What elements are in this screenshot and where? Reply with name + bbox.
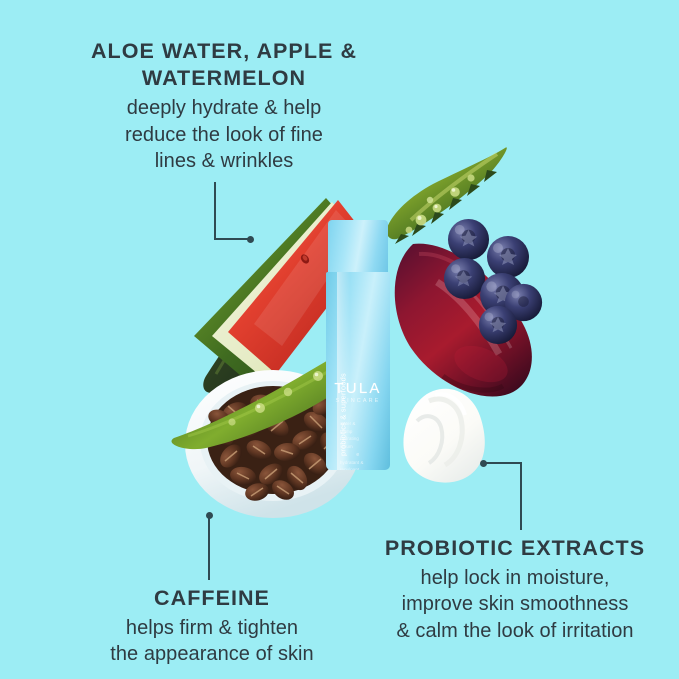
callout-body-line: deeply hydrate & help [38,95,410,121]
fineprint-line: water & [340,421,356,426]
connector-line-horizontal [214,238,250,240]
callout-title-line: CAFFEINE [154,586,270,610]
bottle-cap [328,220,388,275]
callout-aloe-body: deeply hydrate & help reduce the look of… [38,95,410,174]
fineprint-line: repulpant [340,467,359,470]
bottle-net-weight: e [326,452,390,458]
bottle-body: TULA SKINCARE probiotics & superfoods wa… [326,272,390,470]
callout-caffeine-body: helps firm & tighten the appearance of s… [62,615,362,668]
callout-body-line: & calm the look of irritation [367,618,663,644]
blueberry [478,305,518,345]
callout-body-line: lines & wrinkles [38,148,410,174]
callout-body-line: reduce the look of fine [38,122,410,148]
connector-probiotic [480,460,526,532]
connector-line-horizontal [484,462,522,464]
fineprint-line: hydratant & [340,460,364,465]
connector-line-vertical [208,516,210,580]
callout-aloe-water: ALOE WATER, APPLE & WATERMELON deeply hy… [38,38,410,174]
callout-caffeine: CAFFEINE helps firm & tighten the appear… [62,585,362,668]
callout-probiotic-body: help lock in moisture, improve skin smoo… [367,565,663,644]
callout-aloe-title: ALOE WATER, APPLE & WATERMELON [38,38,410,92]
callout-body-line: the appearance of skin [62,641,362,667]
product-bottle[interactable]: TULA SKINCARE probiotics & superfoods wa… [326,220,390,470]
fineprint-line: serum [340,444,353,449]
connector-caffeine [205,512,214,580]
callout-body-line: improve skin smoothness [367,591,663,617]
callout-probiotic-extracts: PROBIOTIC EXTRACTS help lock in moisture… [367,535,663,644]
product-ingredient-infographic: TULA SKINCARE probiotics & superfoods wa… [0,0,679,679]
callout-body-line: help lock in moisture, [367,565,663,591]
fineprint-line: plump [340,429,352,434]
brand-name: TULA [326,380,390,397]
brand-subtitle: SKINCARE [326,398,390,404]
blueberry [447,218,490,261]
callout-caffeine-title: CAFFEINE [62,585,362,612]
callout-title-line: PROBIOTIC EXTRACTS [385,536,645,560]
bottle-fineprint: water & plump hydrating serum hydratant … [340,420,384,470]
connector-line-vertical [214,182,216,240]
connector-dot [247,236,254,243]
fineprint-line: hydrating [340,436,359,441]
connector-aloe [214,182,256,242]
callout-title-line: ALOE WATER, APPLE [91,39,333,63]
callout-probiotic-title: PROBIOTIC EXTRACTS [367,535,663,562]
callout-body-line: helps firm & tighten [62,615,362,641]
connector-line-vertical [520,462,522,530]
